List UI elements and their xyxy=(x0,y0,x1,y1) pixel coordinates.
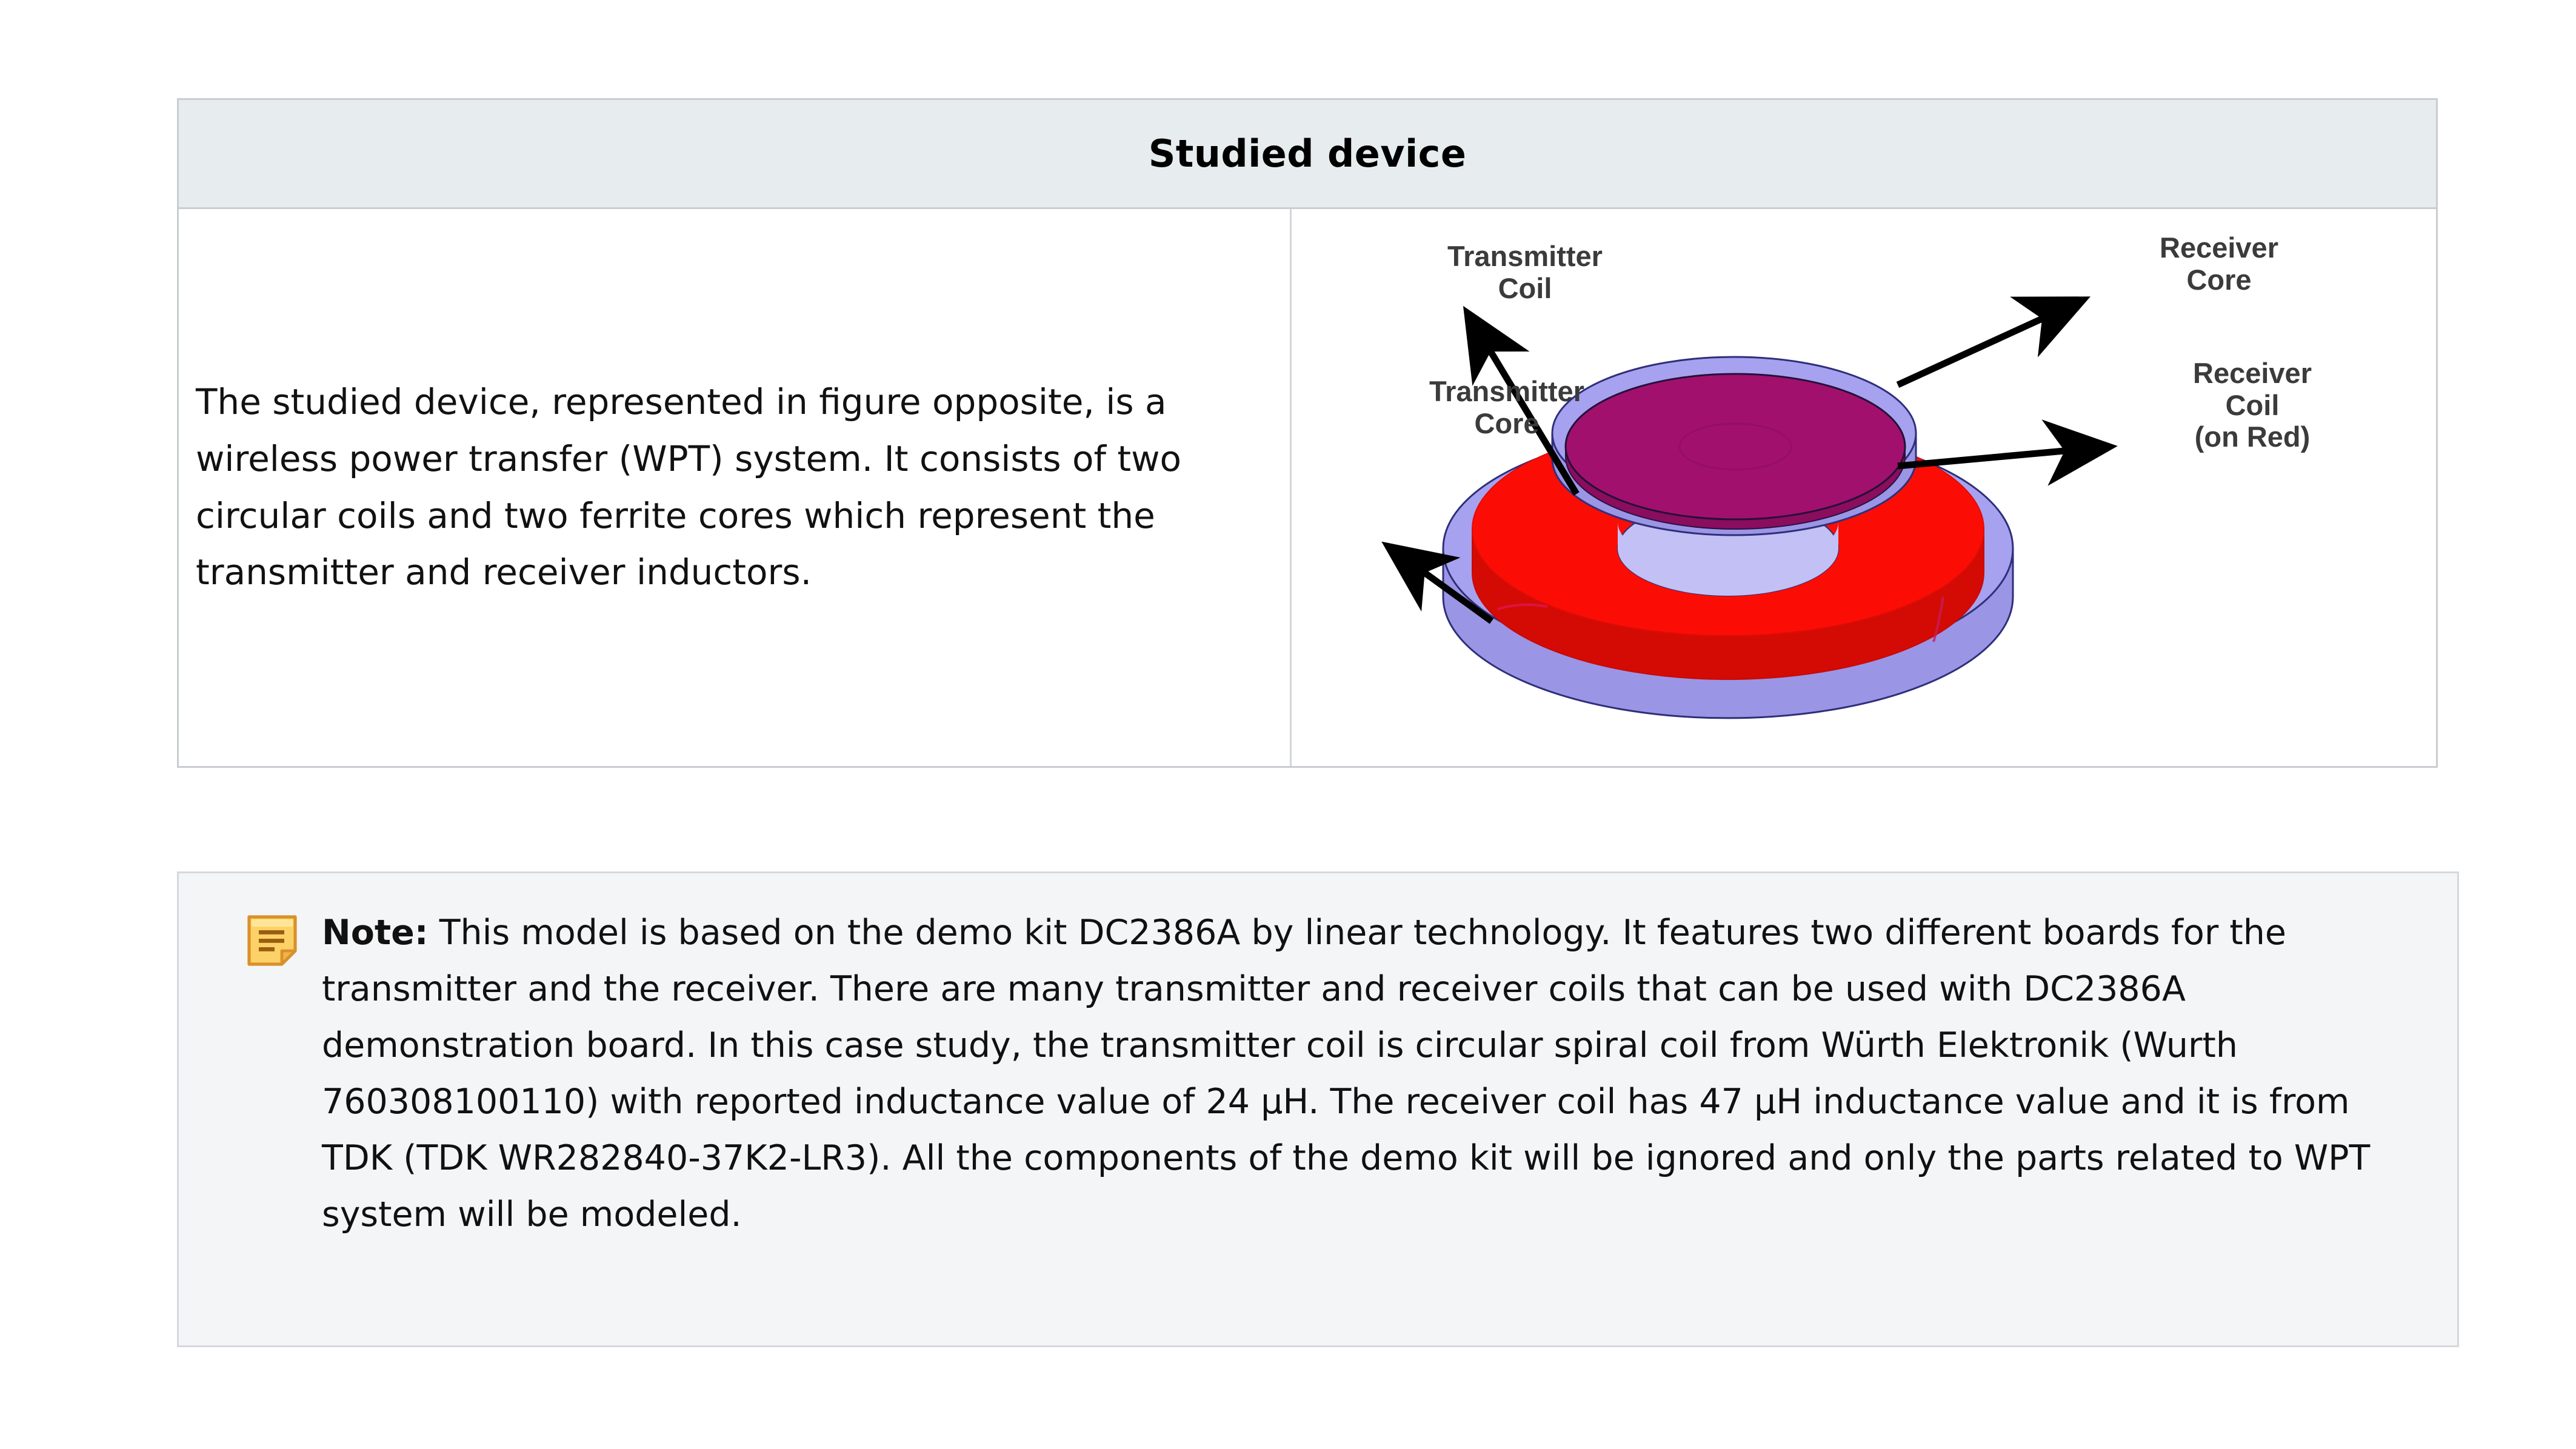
note-body: This model is based on the demo kit DC23… xyxy=(322,913,2370,1234)
note-icon xyxy=(245,914,299,1316)
arrow-receiver-core xyxy=(1898,305,2072,385)
page-title: Studied device xyxy=(1149,132,1467,176)
studied-device-header: Studied device xyxy=(179,100,2436,209)
figure-cell: Transmitter Coil Transmitter Core Receiv… xyxy=(1292,209,2436,766)
label-transmitter-core: Transmitter Core xyxy=(1376,376,1637,439)
studied-device-body: The studied device, represented in figur… xyxy=(179,209,2436,766)
note-text: Note: This model is based on the demo ki… xyxy=(322,902,2423,1316)
note-label: Note: xyxy=(322,913,429,953)
description-cell: The studied device, represented in figur… xyxy=(179,209,1292,766)
note-callout: Note: This model is based on the demo ki… xyxy=(177,871,2459,1347)
label-receiver-coil: Receiver Coil (on Red) xyxy=(2125,358,2380,453)
label-transmitter-coil: Transmitter Coil xyxy=(1395,241,1655,304)
label-receiver-core: Receiver Core xyxy=(2098,232,2340,296)
studied-device-table: Studied device The studied device, repre… xyxy=(177,98,2438,768)
wpt-figure: Transmitter Coil Transmitter Core Receiv… xyxy=(1292,209,2436,766)
device-description: The studied device, represented in figur… xyxy=(196,374,1253,602)
arrow-receiver-coil xyxy=(1898,448,2098,466)
